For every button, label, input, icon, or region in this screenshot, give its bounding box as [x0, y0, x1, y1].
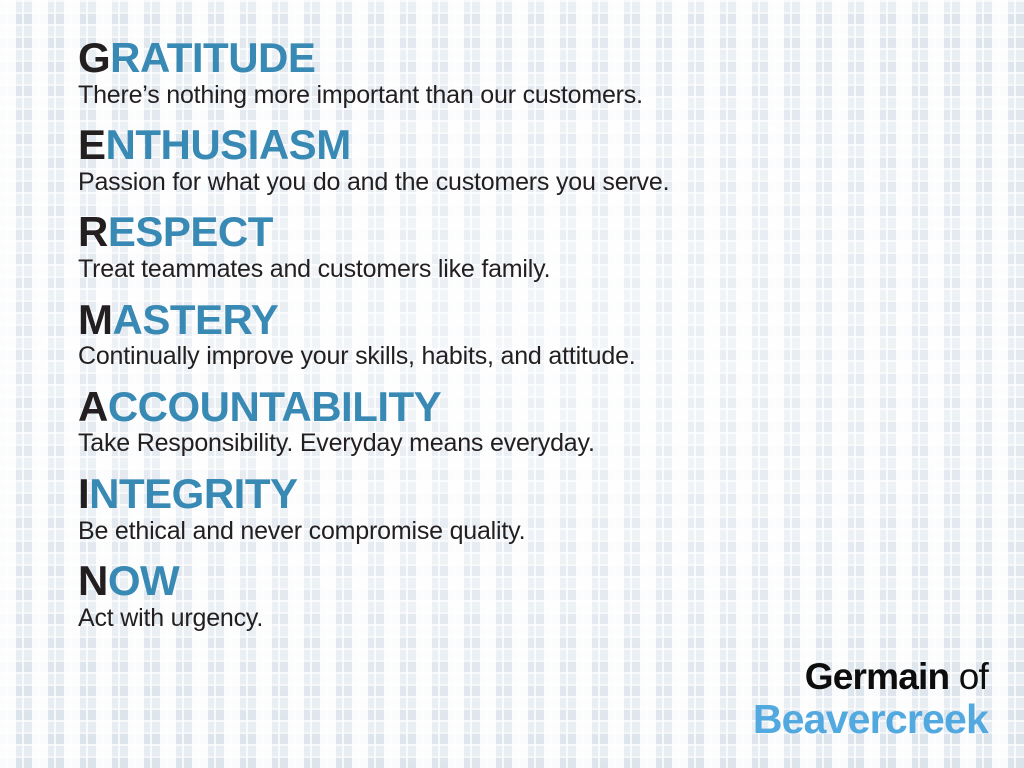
- value-rest: NTHUSIASM: [106, 121, 351, 168]
- value-description: Take Responsibility. Everyday means ever…: [78, 429, 1024, 459]
- value-description: Continually improve your skills, habits,…: [78, 342, 1024, 372]
- value-item-gratitude: GRATITUDE There’s nothing more important…: [78, 36, 1024, 110]
- value-description: There’s nothing more important than our …: [78, 81, 1024, 111]
- logo-line-primary: Germain of: [753, 658, 988, 695]
- value-heading: NOW: [78, 559, 1024, 603]
- value-item-accountability: ACCOUNTABILITY Take Responsibility. Ever…: [78, 385, 1024, 459]
- value-initial: M: [78, 296, 113, 343]
- value-description: Be ethical and never compromise quality.: [78, 517, 1024, 547]
- value-item-respect: RESPECT Treat teammates and customers li…: [78, 210, 1024, 284]
- value-initial: I: [78, 470, 89, 517]
- value-initial: A: [78, 383, 108, 430]
- value-rest: ESPECT: [108, 208, 273, 255]
- values-list: GRATITUDE There’s nothing more important…: [0, 0, 1024, 768]
- value-initial: R: [78, 208, 108, 255]
- value-heading: GRATITUDE: [78, 36, 1024, 80]
- value-item-mastery: MASTERY Continually improve your skills,…: [78, 298, 1024, 372]
- value-heading: INTEGRITY: [78, 472, 1024, 516]
- value-rest: CCOUNTABILITY: [108, 383, 441, 430]
- value-rest: RATITUDE: [110, 34, 315, 81]
- value-heading: MASTERY: [78, 298, 1024, 342]
- value-item-now: NOW Act with urgency.: [78, 559, 1024, 633]
- value-description: Act with urgency.: [78, 604, 1024, 634]
- logo-location: Beavercreek: [753, 699, 988, 740]
- value-item-integrity: INTEGRITY Be ethical and never compromis…: [78, 472, 1024, 546]
- value-initial: G: [78, 34, 110, 81]
- value-rest: NTEGRITY: [89, 470, 297, 517]
- logo-connector: [949, 656, 958, 697]
- value-item-enthusiasm: ENTHUSIASM Passion for what you do and t…: [78, 123, 1024, 197]
- value-description: Treat teammates and customers like famil…: [78, 255, 1024, 285]
- value-rest: OW: [108, 557, 179, 604]
- value-initial: E: [78, 121, 106, 168]
- logo-brand-name: Germain: [805, 656, 950, 697]
- value-heading: RESPECT: [78, 210, 1024, 254]
- value-heading: ENTHUSIASM: [78, 123, 1024, 167]
- value-heading: ACCOUNTABILITY: [78, 385, 1024, 429]
- logo-connector-text: of: [959, 656, 988, 697]
- values-poster: GRATITUDE There’s nothing more important…: [0, 0, 1024, 768]
- brand-logo: Germain of Beavercreek: [753, 658, 988, 740]
- value-rest: ASTERY: [113, 296, 279, 343]
- value-description: Passion for what you do and the customer…: [78, 168, 1024, 198]
- value-initial: N: [78, 557, 108, 604]
